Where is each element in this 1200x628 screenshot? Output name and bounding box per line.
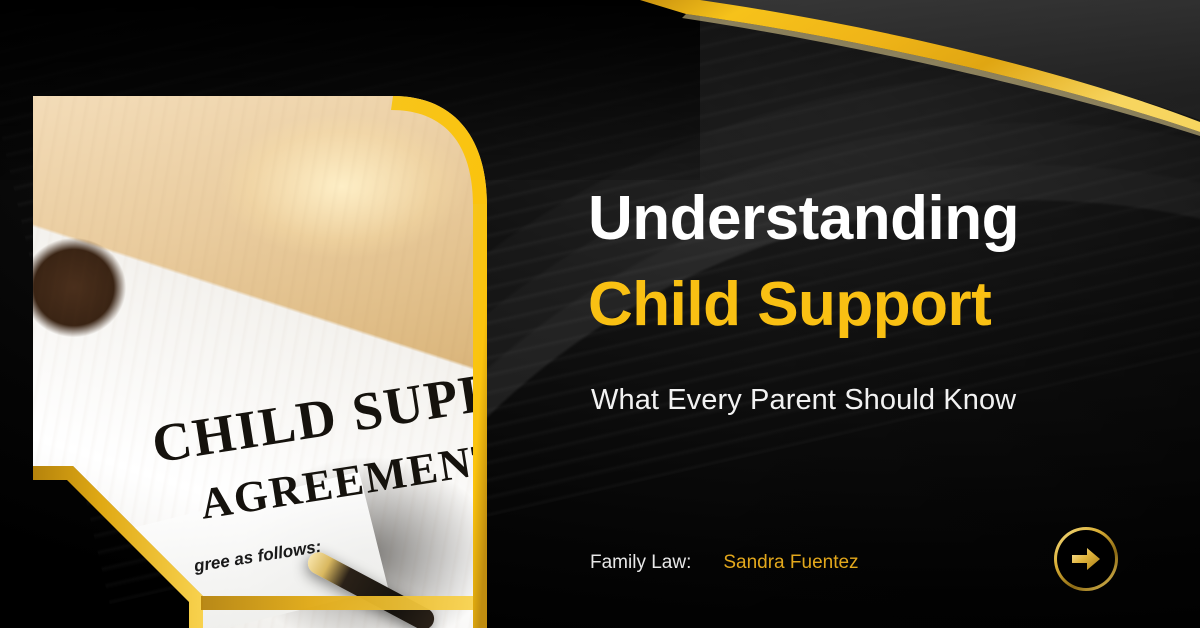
document-body-line-2: the agreement xyxy=(87,582,177,611)
presentation-slide: CHILD SUPP AGREEMENT gree as follows: th… xyxy=(0,0,1200,628)
footer-presenter-name: Sandra Fuentez xyxy=(723,552,858,574)
hero-image-card: CHILD SUPP AGREEMENT gree as follows: th… xyxy=(33,96,487,628)
footer-credit: Family Law: Sandra Fuentez xyxy=(590,552,859,574)
arrow-right-icon xyxy=(1071,546,1101,572)
slide-content: Understanding Child Support What Every P… xyxy=(588,0,1148,628)
next-slide-button[interactable] xyxy=(1054,527,1118,591)
title-line-1: Understanding xyxy=(588,188,1019,250)
footer-label: Family Law: xyxy=(590,552,691,574)
hero-photo-desk-document: CHILD SUPP AGREEMENT gree as follows: th… xyxy=(33,96,487,628)
subtitle: What Every Parent Should Know xyxy=(591,384,1016,417)
title-line-2: Child Support xyxy=(588,274,991,336)
hero-image-clip: CHILD SUPP AGREEMENT gree as follows: th… xyxy=(33,96,487,628)
